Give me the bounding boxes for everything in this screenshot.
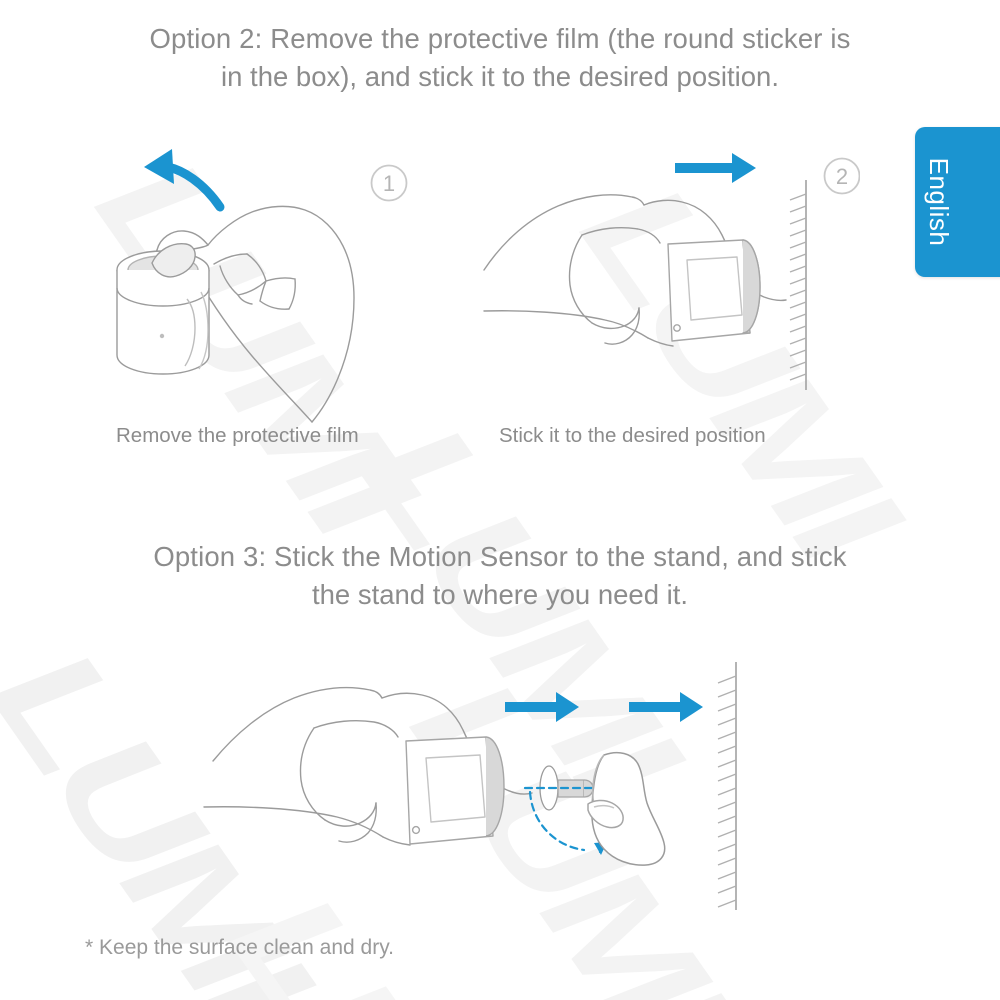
caption-remove-film: Remove the protective film	[116, 424, 359, 448]
wall-hatching	[718, 662, 736, 910]
option2-heading-line2: in the box), and stick it to the desired…	[0, 58, 1000, 96]
step-number-1: 1	[372, 166, 407, 201]
svg-text:1: 1	[383, 171, 395, 196]
arrow-right-icon	[629, 692, 703, 722]
option3-heading: Option 3: Stick the Motion Sensor to the…	[0, 538, 1000, 614]
instruction-page: LUMI LUMI LUMI LUMI LUMI LUMI Option 2: …	[0, 0, 1000, 1000]
language-tab-english[interactable]: English	[915, 127, 1000, 277]
step-number-2: 2	[825, 159, 860, 194]
language-tab-label: English	[917, 127, 961, 277]
illustration-remove-film: 1	[100, 140, 430, 430]
illustration-stand-mount	[180, 640, 800, 930]
option3-heading-line2: the stand to where you need it.	[0, 576, 1000, 614]
arrow-right-icon	[675, 153, 756, 183]
option2-heading: Option 2: Remove the protective film (th…	[0, 20, 1000, 96]
arrow-right-icon	[505, 692, 579, 722]
svg-text:2: 2	[836, 164, 848, 189]
illustration-stick-to-position: 2	[460, 140, 860, 430]
caption-stick-position: Stick it to the desired position	[499, 424, 766, 448]
option3-heading-line1: Option 3: Stick the Motion Sensor to the…	[0, 538, 1000, 576]
wall-hatching	[790, 180, 806, 390]
curved-arrow-left-icon	[144, 149, 220, 207]
option2-heading-line1: Option 2: Remove the protective film (th…	[0, 20, 1000, 58]
footnote-keep-surface-clean: * Keep the surface clean and dry.	[85, 936, 394, 960]
